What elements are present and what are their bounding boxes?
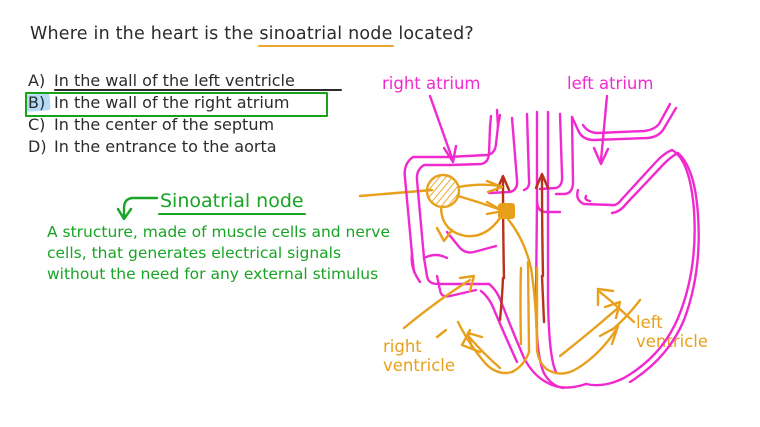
- sinoatrial-node-icon: [427, 175, 459, 207]
- label-leader-arrows: [430, 96, 608, 164]
- worksheet-page: Where in the heart is the sinoatrial nod…: [0, 0, 760, 427]
- annotation-pointer-arrow: [118, 198, 157, 219]
- heart-conduction-diagram: [0, 0, 760, 427]
- blood-flow-arrows: [497, 174, 548, 322]
- sa-node-leader-line: [360, 190, 432, 196]
